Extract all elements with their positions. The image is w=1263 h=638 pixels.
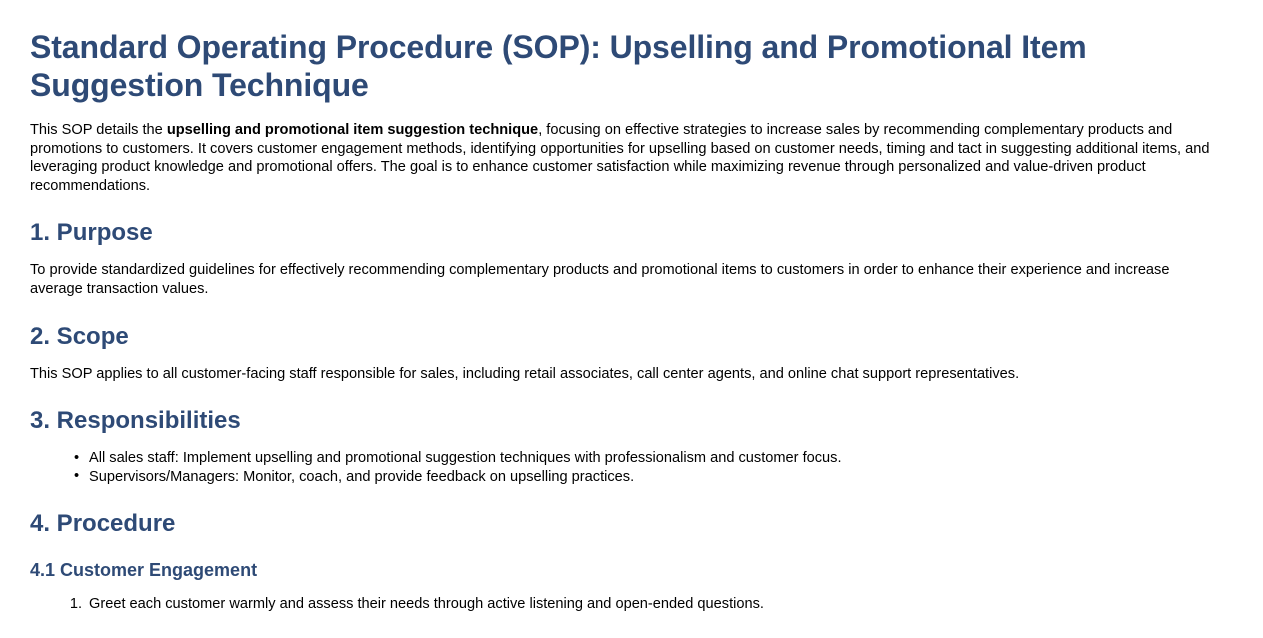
section-heading-scope: 2. Scope (30, 299, 1215, 351)
document-page: Standard Operating Procedure (SOP): Upse… (0, 0, 1263, 638)
intro-emphasis: upselling and promotional item suggestio… (167, 122, 538, 138)
list-item: All sales staff: Implement upselling and… (30, 449, 1215, 468)
responsibilities-list: All sales staff: Implement upselling and… (30, 435, 1215, 486)
section-heading-purpose: 1. Purpose (30, 195, 1215, 247)
intro-lead: This SOP details the (30, 122, 167, 138)
section-paragraph-scope: This SOP applies to all customer-facing … (30, 351, 1215, 384)
page-title: Standard Operating Procedure (SOP): Upse… (30, 0, 1120, 104)
section-paragraph-purpose: To provide standardized guidelines for e… (30, 247, 1215, 298)
subsection-heading-customer-engagement: 4.1 Customer Engagement (30, 538, 1215, 581)
list-item: Supervisors/Managers: Monitor, coach, an… (30, 468, 1215, 487)
section-heading-responsibilities: 3. Responsibilities (30, 383, 1215, 435)
list-item: Greet each customer warmly and assess th… (30, 595, 1215, 614)
section-heading-procedure: 4. Procedure (30, 486, 1215, 538)
intro-paragraph: This SOP details the upselling and promo… (30, 104, 1215, 195)
procedure-steps-list: Greet each customer warmly and assess th… (30, 581, 1215, 614)
